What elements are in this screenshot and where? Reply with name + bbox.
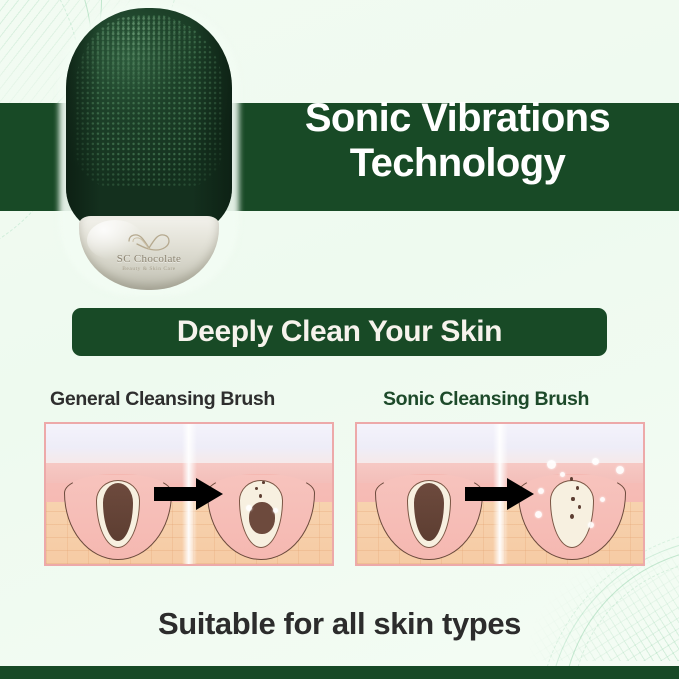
right-arrow-icon [465,477,535,511]
debris-speck [571,497,575,502]
sonic-brush-diagram [355,422,645,566]
cleansing-bubble [535,511,542,518]
product-device-image: SC Chocolate Beauty & Skin Care [66,8,232,291]
device-shadow-left [66,8,100,234]
debris-speck [262,481,265,484]
footer-bar [0,666,679,679]
debris-speck [255,487,258,490]
comparison-labels: General Cleansing Brush Sonic Cleansing … [0,387,679,413]
cleansing-bubble [273,508,278,513]
cleansing-bubble [600,497,605,502]
device-brand-tagline: Beauty & Skin Care [79,267,219,273]
suitable-for-all-skin-types-text: Suitable for all skin types [0,606,679,642]
device-silicone-head [66,8,232,234]
deeply-clean-banner: Deeply Clean Your Skin [72,308,607,356]
cleansing-bubble [616,466,624,474]
device-brand-logo: SC Chocolate Beauty & Skin Care [79,231,219,273]
sonic-brush-label: Sonic Cleansing Brush [383,387,589,411]
cleansing-bubble [588,522,594,528]
device-shadow-right [192,8,232,234]
right-arrow-icon [154,477,224,511]
debris-speck [259,494,262,498]
cleansing-bubble [547,460,556,469]
device-brand-name: SC Chocolate [79,254,219,265]
residual-sebum [249,502,275,534]
general-brush-diagram [44,422,334,566]
deeply-clean-banner-text: Deeply Clean Your Skin [177,317,502,347]
general-brush-label: General Cleansing Brush [50,387,275,411]
debris-speck [570,514,574,519]
cleansing-bubble [592,458,599,465]
cleansing-bubble [560,472,565,477]
heart-icon [125,231,173,253]
debris-speck [576,486,579,490]
product-feature-poster: Sonic Vibrations Technology SC Chocolate… [0,0,679,679]
